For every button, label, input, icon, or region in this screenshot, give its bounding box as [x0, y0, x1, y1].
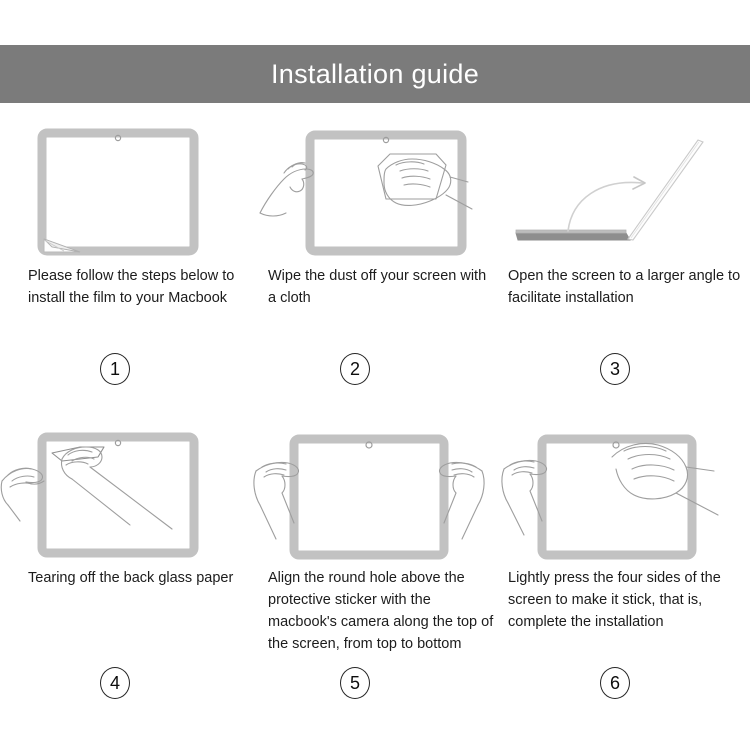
step-1-caption: Please follow the steps below to install… — [0, 265, 250, 309]
step-badge-3: 3 — [600, 353, 630, 385]
step-5-caption: Align the round hole above the protectiv… — [250, 567, 500, 655]
hands-peeling-back-paper-icon — [0, 423, 250, 563]
step-badge-1: 1 — [100, 353, 130, 385]
steps-grid: Please follow the steps below to install… — [0, 103, 750, 750]
step-4-caption: Tearing off the back glass paper — [0, 567, 250, 589]
hand-pressing-screen-edges-icon — [500, 423, 750, 563]
step-6-illustration — [500, 423, 750, 563]
tablet-with-peeling-film-corner-icon — [0, 121, 250, 261]
step-card-6: Lightly press the four sides of the scre… — [500, 405, 750, 725]
step-1-illustration — [0, 121, 250, 261]
step-card-3: Open the screen to a larger angle to fac… — [500, 103, 750, 405]
step-badge-4: 4 — [100, 667, 130, 699]
step-card-5: Align the round hole above the protectiv… — [250, 405, 500, 725]
step-card-4: Tearing off the back glass paper 4 — [0, 405, 250, 725]
page-title: Installation guide — [271, 59, 479, 90]
step-2-caption: Wipe the dust off your screen with a clo… — [250, 265, 500, 309]
step-badge-2: 2 — [340, 353, 370, 385]
steps-row-bottom: Tearing off the back glass paper 4 — [0, 405, 750, 725]
installation-guide-header: Installation guide — [0, 45, 750, 103]
step-5-illustration — [250, 423, 500, 563]
step-card-1: Please follow the steps below to install… — [0, 103, 250, 405]
two-hands-aligning-film-icon — [250, 423, 500, 563]
step-3-illustration — [500, 121, 750, 261]
step-card-2: Wipe the dust off your screen with a clo… — [250, 103, 500, 405]
step-3-caption: Open the screen to a larger angle to fac… — [500, 265, 750, 309]
hand-wiping-screen-with-cloth-icon — [250, 121, 500, 261]
steps-row-top: Please follow the steps below to install… — [0, 103, 750, 405]
step-badge-5: 5 — [340, 667, 370, 699]
step-badge-6: 6 — [600, 667, 630, 699]
step-4-illustration — [0, 423, 250, 563]
step-6-caption: Lightly press the four sides of the scre… — [500, 567, 750, 633]
laptop-opening-angle-icon — [500, 121, 750, 261]
step-2-illustration — [250, 121, 500, 261]
